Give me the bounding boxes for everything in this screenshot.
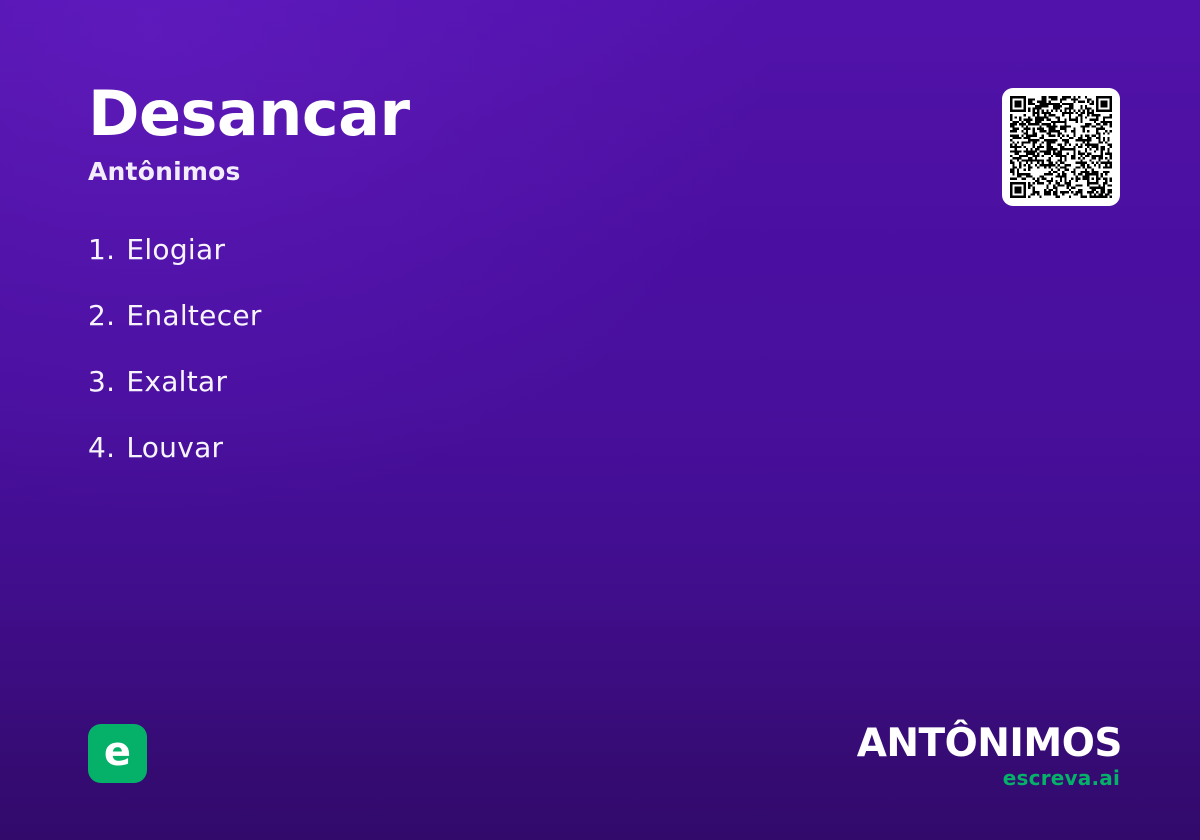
wordmark-secondary: escreva.ai bbox=[857, 768, 1120, 788]
list-item-word: Exaltar bbox=[126, 368, 227, 396]
list-item: 4. Louvar bbox=[88, 434, 848, 500]
header: Desancar Antônimos bbox=[88, 82, 788, 186]
list-item-index: 4. bbox=[88, 434, 115, 462]
brand-wordmark: ANTÔNIMOS escreva.ai bbox=[857, 724, 1122, 788]
wordmark-primary: ANTÔNIMOS bbox=[857, 724, 1122, 763]
list-item-index: 2. bbox=[88, 302, 115, 330]
list-item: 1. Elogiar bbox=[88, 236, 848, 302]
list-item-index: 3. bbox=[88, 368, 115, 396]
list-item-word: Elogiar bbox=[126, 236, 225, 264]
poster-canvas: Desancar Antônimos 1. Elogiar 2. Enaltec… bbox=[0, 0, 1200, 840]
list-item: 3. Exaltar bbox=[88, 368, 848, 434]
escreva-logo-badge[interactable]: e bbox=[88, 724, 147, 783]
qr-code-icon bbox=[1010, 96, 1112, 198]
list-item-index: 1. bbox=[88, 236, 115, 264]
page-title: Desancar bbox=[88, 82, 788, 145]
page-subtitle: Antônimos bbox=[88, 157, 788, 186]
list-item-word: Louvar bbox=[126, 434, 223, 462]
list-item: 2. Enaltecer bbox=[88, 302, 848, 368]
list-item-word: Enaltecer bbox=[126, 302, 261, 330]
brand-badge-letter: e bbox=[104, 732, 131, 772]
antonym-list: 1. Elogiar 2. Enaltecer 3. Exaltar 4. Lo… bbox=[88, 236, 848, 500]
qr-code-card[interactable] bbox=[1002, 88, 1120, 206]
